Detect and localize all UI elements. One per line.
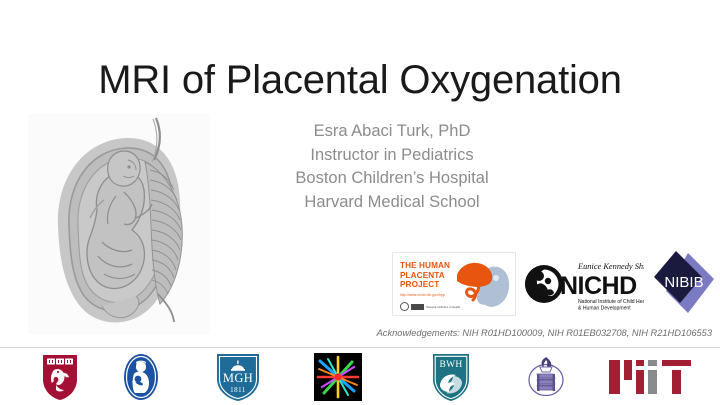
hpp-nih-footer: National Institutes of Health: [400, 302, 460, 311]
hpp-url: http://www.nichd.nih.gov/hpp: [400, 293, 445, 297]
torch-emblem-logo: [510, 348, 582, 405]
mit-logo: [600, 348, 700, 405]
slide-title: MRI of Placental Oxygenation: [0, 57, 720, 103]
nih-seal-icon: [400, 302, 409, 311]
tractography-image-logo: [305, 348, 371, 405]
subtitle-line-hospital: Boston Children’s Hospital: [232, 167, 552, 191]
hpp-title-line3: PROJECT: [400, 280, 439, 289]
institution-logo-bar: MGH 1811: [0, 348, 720, 405]
funder-logo-group: THE HUMAN PLACENTA PROJECT http://www.ni…: [392, 246, 712, 322]
nichd-script-line: Eunice Kennedy Shriver: [577, 262, 644, 271]
subtitle-line-presenter: Esra Abaci Turk, PhD: [232, 120, 552, 144]
nichd-acronym: NICHD: [560, 272, 637, 300]
acknowledgements-text: Acknowledgements: NIH R01HD100009, NIH R…: [377, 328, 712, 338]
nibib-logo: NIBIB: [650, 247, 718, 319]
bwh-acronym: BWH: [439, 360, 462, 370]
mgh-acronym: MGH: [223, 371, 253, 385]
placenta-fetus-illustration: [28, 114, 210, 334]
mgh-year: 1811: [230, 386, 246, 394]
hpp-nih-label: National Institutes of Health: [426, 305, 460, 309]
presentation-slide: MRI of Placental Oxygenation Esra Abaci …: [0, 0, 720, 405]
nichd-logo: Eunice Kennedy Shriver NICHD National In…: [522, 250, 644, 316]
human-placenta-project-logo: THE HUMAN PLACENTA PROJECT http://www.ni…: [392, 252, 516, 316]
boston-childrens-hospital-logo: [105, 348, 177, 405]
hpp-title: THE HUMAN PLACENTA PROJECT: [400, 261, 450, 290]
hpp-title-line1: THE HUMAN: [400, 261, 450, 270]
brigham-and-womens-hospital-logo: BWH: [415, 348, 487, 405]
massachusetts-general-hospital-logo: MGH 1811: [198, 348, 278, 405]
nichd-subtitle-line1: National Institute of Child Health: [578, 299, 644, 305]
nih-wordmark-icon: [411, 304, 424, 310]
hpp-title-line2: PLACENTA: [400, 271, 445, 280]
harvard-medical-school-logo: [24, 348, 96, 405]
subtitle-line-institution: Harvard Medical School: [232, 191, 552, 215]
nichd-subtitle-line2: & Human Development: [578, 306, 631, 312]
slide-subtitle: Esra Abaci Turk, PhD Instructor in Pedia…: [232, 120, 552, 214]
nibib-acronym: NIBIB: [664, 274, 703, 291]
subtitle-line-role: Instructor in Pediatrics: [232, 144, 552, 168]
